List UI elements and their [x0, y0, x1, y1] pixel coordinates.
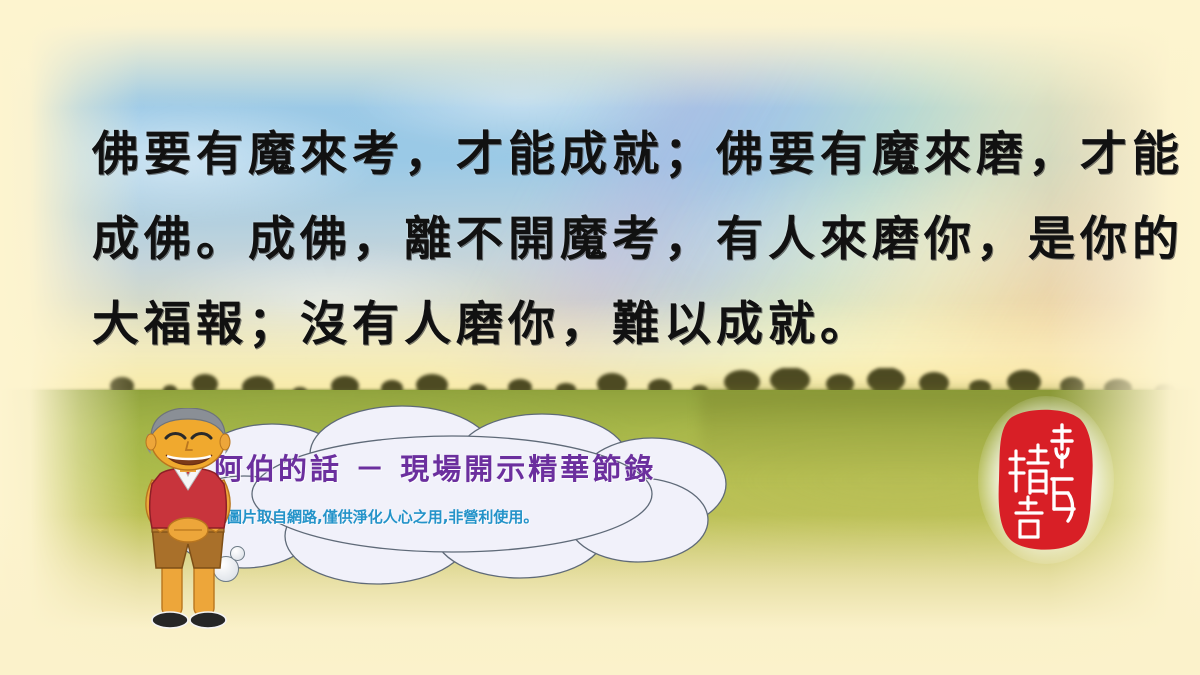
quote-line-3: 大福報；沒有人磨你，難以成就。 [92, 282, 1122, 367]
quote-block: 佛要有魔來考，才能成就；佛要有魔來磨，才能 成佛。成佛，離不開魔考，有人來磨你，… [92, 112, 1122, 367]
elderly-man-figure [118, 408, 258, 638]
poster-canvas: 佛要有魔來考，才能成就；佛要有魔來磨，才能 成佛。成佛，離不開魔考，有人來磨你，… [0, 0, 1200, 675]
quote-line-1: 佛要有魔來考，才能成就；佛要有魔來磨，才能 [92, 112, 1122, 197]
quote-line-2: 成佛。成佛，離不開魔考，有人來磨你，是你的 [92, 197, 1122, 282]
cloud-subtitle: 此圖片取自網路,僅供淨化人心之用,非營利使用。 [212, 506, 538, 527]
field-shadow [700, 388, 1200, 508]
cloud-title: 阿伯的話 － 現場開示精華節錄 [214, 446, 656, 488]
seal-stamp [994, 405, 1098, 553]
